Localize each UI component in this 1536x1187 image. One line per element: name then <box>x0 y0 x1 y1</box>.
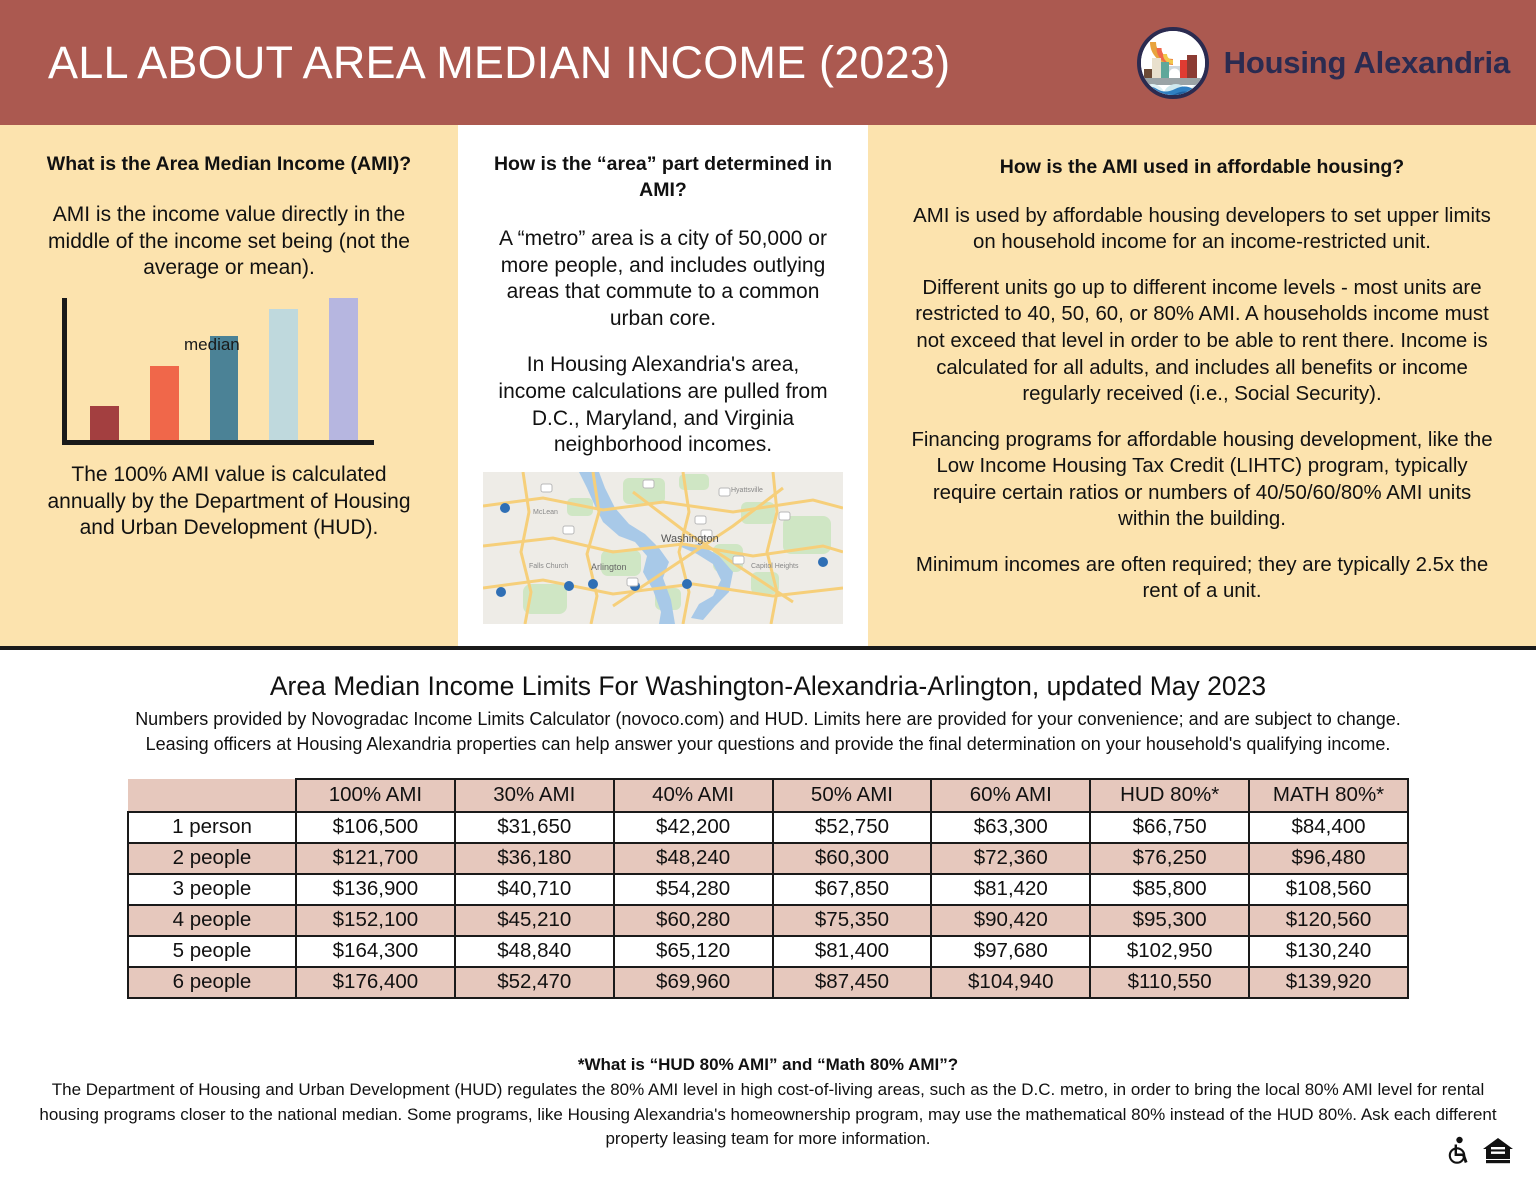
table-cell: $85,800 <box>1090 874 1249 905</box>
three-column-band: What is the Area Median Income (AMI)? AM… <box>0 125 1536 646</box>
chart-bar <box>329 298 358 440</box>
col-a-caption: The 100% AMI value is calculated annuall… <box>0 462 458 542</box>
table-cell: $97,680 <box>931 936 1090 967</box>
table-cell: $60,280 <box>614 905 773 936</box>
median-bar-chart: median <box>62 298 374 445</box>
table-cell: $120,560 <box>1249 905 1408 936</box>
table-row-label: 6 people <box>128 967 296 998</box>
table-cell: $72,360 <box>931 843 1090 874</box>
table-cell: $90,420 <box>931 905 1090 936</box>
chart-bar <box>269 309 298 440</box>
svg-text:McLean: McLean <box>533 509 558 516</box>
table-row-label: 5 people <box>128 936 296 967</box>
table-cell: $95,300 <box>1090 905 1249 936</box>
table-cell: $96,480 <box>1249 843 1408 874</box>
page-title: ALL ABOUT AREA MEDIAN INCOME (2023) <box>48 37 950 89</box>
table-row: 6 people$176,400$52,470$69,960$87,450$10… <box>128 967 1408 998</box>
col-c-paragraph-1: AMI is used by affordable housing develo… <box>904 203 1500 256</box>
table-column-header: 50% AMI <box>773 779 932 812</box>
table-row: 5 people$164,300$48,840$65,120$81,400$97… <box>128 936 1408 967</box>
col-c-heading: How is the AMI used in affordable housin… <box>868 155 1536 181</box>
svg-text:Hyattsville: Hyattsville <box>731 487 763 494</box>
table-cell: $139,920 <box>1249 967 1408 998</box>
table-column-header: 100% AMI <box>296 779 455 812</box>
col-b-paragraph-1: A “metro” area is a city of 50,000 or mo… <box>492 226 834 333</box>
table-body: 1 person$106,500$31,650$42,200$52,750$63… <box>128 812 1408 998</box>
brand-lockup: Housing Alexandria <box>1136 26 1510 100</box>
table-column-header: 60% AMI <box>931 779 1090 812</box>
page-header: ALL ABOUT AREA MEDIAN INCOME (2023) <box>0 0 1536 125</box>
table-cell: $164,300 <box>296 936 455 967</box>
column-what-is-ami: What is the Area Median Income (AMI)? AM… <box>0 125 458 646</box>
median-bar-chart-wrapper: median <box>0 298 458 445</box>
table-cell: $108,560 <box>1249 874 1408 905</box>
table-cell: $104,940 <box>931 967 1090 998</box>
brand-name: Housing Alexandria <box>1224 45 1510 81</box>
col-c-paragraph-3: Financing programs for affordable housin… <box>904 427 1500 533</box>
table-cell: $36,180 <box>455 843 614 874</box>
table-cell: $65,120 <box>614 936 773 967</box>
table-cell: $106,500 <box>296 812 455 843</box>
table-row: 3 people$136,900$40,710$54,280$67,850$81… <box>128 874 1408 905</box>
chart-y-axis <box>62 298 67 445</box>
table-cell: $152,100 <box>296 905 455 936</box>
table-cell: $52,750 <box>773 812 932 843</box>
svg-text:Falls Church: Falls Church <box>529 563 568 570</box>
col-b-body: A “metro” area is a city of 50,000 or mo… <box>458 226 868 459</box>
equal-housing-opportunity-icon <box>1482 1136 1514 1169</box>
compliance-badges <box>1446 1136 1514 1169</box>
table-title: Area Median Income Limits For Washington… <box>0 671 1536 701</box>
table-cell: $45,210 <box>455 905 614 936</box>
table-cell: $48,840 <box>455 936 614 967</box>
table-cell: $66,750 <box>1090 812 1249 843</box>
table-cell: $136,900 <box>296 874 455 905</box>
table-cell: $121,700 <box>296 843 455 874</box>
col-b-paragraph-2: In Housing Alexandria's area, income cal… <box>492 352 834 459</box>
table-head: 100% AMI30% AMI40% AMI50% AMI60% AMIHUD … <box>128 779 1408 812</box>
col-a-body: AMI is the income value directly in the … <box>0 202 458 282</box>
table-cell: $102,950 <box>1090 936 1249 967</box>
chart-x-axis <box>62 440 374 445</box>
table-corner-cell <box>128 779 296 812</box>
column-ami-usage: How is the AMI used in affordable housin… <box>868 125 1536 646</box>
column-area-definition: How is the “area” part determined in AMI… <box>458 125 868 646</box>
table-cell: $130,240 <box>1249 936 1408 967</box>
table-cell: $81,400 <box>773 936 932 967</box>
table-cell: $60,300 <box>773 843 932 874</box>
col-a-heading: What is the Area Median Income (AMI)? <box>0 152 458 178</box>
chart-median-annotation: median <box>184 335 240 355</box>
chart-bar <box>90 406 119 440</box>
table-cell: $69,960 <box>614 967 773 998</box>
table-cell: $76,250 <box>1090 843 1249 874</box>
svg-text:Capitol Heights: Capitol Heights <box>751 563 799 570</box>
table-column-header: HUD 80%* <box>1090 779 1249 812</box>
col-b-heading: How is the “area” part determined in AMI… <box>458 152 868 204</box>
table-cell: $87,450 <box>773 967 932 998</box>
table-row: 1 person$106,500$31,650$42,200$52,750$63… <box>128 812 1408 843</box>
col-a-paragraph: AMI is the income value directly in the … <box>36 202 422 282</box>
table-column-header: 30% AMI <box>455 779 614 812</box>
housing-alexandria-logo-icon <box>1136 26 1210 100</box>
table-column-header: MATH 80%* <box>1249 779 1408 812</box>
table-cell: $84,400 <box>1249 812 1408 843</box>
table-cell: $176,400 <box>296 967 455 998</box>
table-header-row: 100% AMI30% AMI40% AMI50% AMI60% AMIHUD … <box>128 779 1408 812</box>
table-cell: $42,200 <box>614 812 773 843</box>
infographic-page: ALL ABOUT AREA MEDIAN INCOME (2023) <box>0 0 1536 1187</box>
table-cell: $81,420 <box>931 874 1090 905</box>
footnote-heading: *What is “HUD 80% AMI” and “Math 80% AMI… <box>0 1055 1536 1075</box>
table-cell: $54,280 <box>614 874 773 905</box>
col-c-paragraph-4: Minimum incomes are often required; they… <box>904 552 1500 605</box>
table-column-header: 40% AMI <box>614 779 773 812</box>
col-c-paragraph-2: Different units go up to different incom… <box>904 275 1500 408</box>
chart-bar <box>150 366 179 440</box>
map-label-washington: Washington <box>661 533 719 545</box>
table-cell: $110,550 <box>1090 967 1249 998</box>
table-row: 2 people$121,700$36,180$48,240$60,300$72… <box>128 843 1408 874</box>
table-cell: $40,710 <box>455 874 614 905</box>
map-label-arlington: Arlington <box>591 562 627 572</box>
table-cell: $31,650 <box>455 812 614 843</box>
table-cell: $48,240 <box>614 843 773 874</box>
table-row-label: 2 people <box>128 843 296 874</box>
income-limits-section: Area Median Income Limits For Washington… <box>0 655 1536 999</box>
footnote-section: *What is “HUD 80% AMI” and “Math 80% AMI… <box>0 1055 1536 1152</box>
table-cell: $67,850 <box>773 874 932 905</box>
table-subtitle: Numbers provided by Novogradac Income Li… <box>0 707 1536 755</box>
wheelchair-accessible-icon <box>1446 1136 1472 1169</box>
income-limits-table: 100% AMI30% AMI40% AMI50% AMI60% AMIHUD … <box>127 778 1409 999</box>
table-cell: $63,300 <box>931 812 1090 843</box>
chart-bars <box>90 298 358 440</box>
footnote-body: The Department of Housing and Urban Deve… <box>0 1078 1536 1152</box>
table-row-label: 4 people <box>128 905 296 936</box>
dc-metro-map: Washington Arlington McLean Falls Church… <box>483 472 843 624</box>
section-divider <box>0 646 1536 650</box>
table-cell: $52,470 <box>455 967 614 998</box>
table-row: 4 people$152,100$45,210$60,280$75,350$90… <box>128 905 1408 936</box>
col-c-body: AMI is used by affordable housing develo… <box>868 203 1536 605</box>
table-row-label: 3 people <box>128 874 296 905</box>
table-row-label: 1 person <box>128 812 296 843</box>
table-cell: $75,350 <box>773 905 932 936</box>
